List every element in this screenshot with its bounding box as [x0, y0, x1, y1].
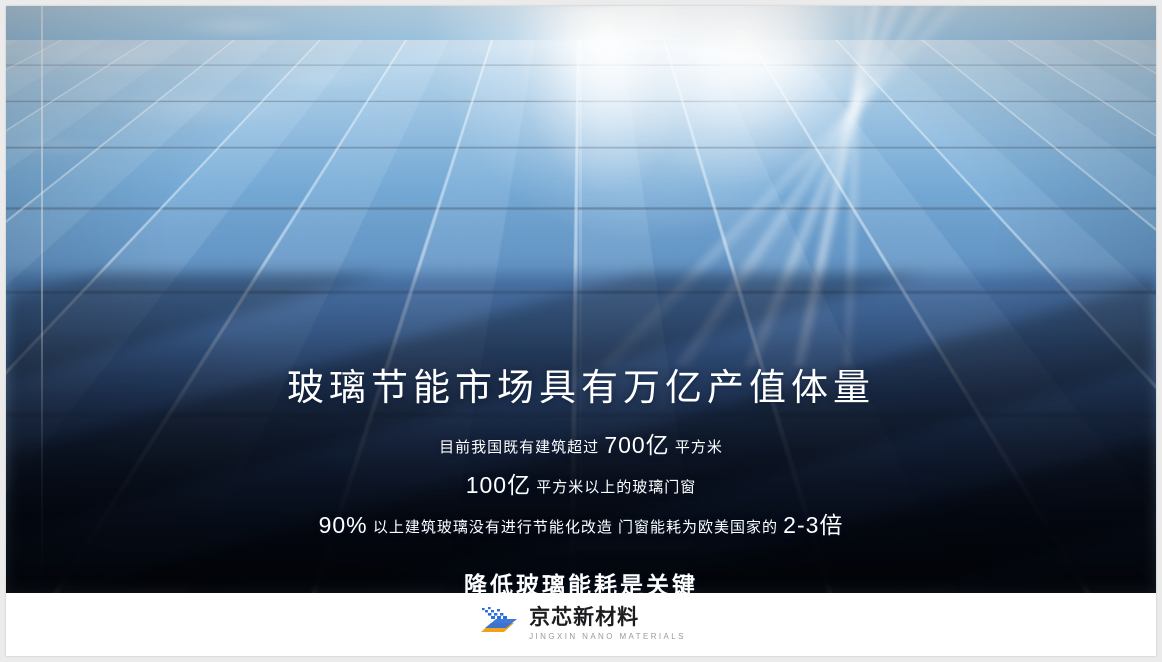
stat-line-1: 目前我国既有建筑超过 700亿 平方米 — [6, 428, 1156, 464]
logo-text: 京芯新材料 JINGXIN NANO MATERIALS — [529, 607, 686, 642]
slide-page: 玻璃节能市场具有万亿产值体量 目前我国既有建筑超过 700亿 平方米 100亿 … — [0, 0, 1162, 662]
stat-line-2: 100亿 平方米以上的玻璃门窗 — [6, 468, 1156, 504]
text-block: 玻璃节能市场具有万亿产值体量 目前我国既有建筑超过 700亿 平方米 100亿 … — [6, 366, 1156, 623]
stat-3-value: 90% — [319, 512, 368, 538]
stat-1-suffix: 平方米 — [675, 439, 723, 456]
logo-mark-icon — [476, 607, 518, 641]
stat-1-value: 700亿 — [604, 432, 669, 458]
slide-canvas: 玻璃节能市场具有万亿产值体量 目前我国既有建筑超过 700亿 平方米 100亿 … — [6, 6, 1156, 656]
footer-bar: 京芯新材料 JINGXIN NANO MATERIALS — [6, 593, 1156, 656]
stat-1-prefix: 目前我国既有建筑超过 — [439, 439, 599, 456]
stat-line-3: 90% 以上建筑玻璃没有进行节能化改造 门窗能耗为欧美国家的 2-3倍 — [6, 508, 1156, 544]
logo-english-name: JINGXIN NANO MATERIALS — [529, 632, 686, 642]
stat-2-value: 100亿 — [466, 472, 531, 498]
logo-chinese-name: 京芯新材料 — [529, 607, 686, 629]
brand-logo: 京芯新材料 JINGXIN NANO MATERIALS — [476, 607, 686, 642]
page-title: 玻璃节能市场具有万亿产值体量 — [6, 366, 1156, 410]
stat-3-suffix: 以上建筑玻璃没有进行节能化改造 门窗能耗为欧美国家的 — [373, 519, 778, 536]
stat-3-value2: 2-3倍 — [783, 512, 843, 538]
stat-2-suffix: 平方米以上的玻璃门窗 — [536, 479, 696, 496]
